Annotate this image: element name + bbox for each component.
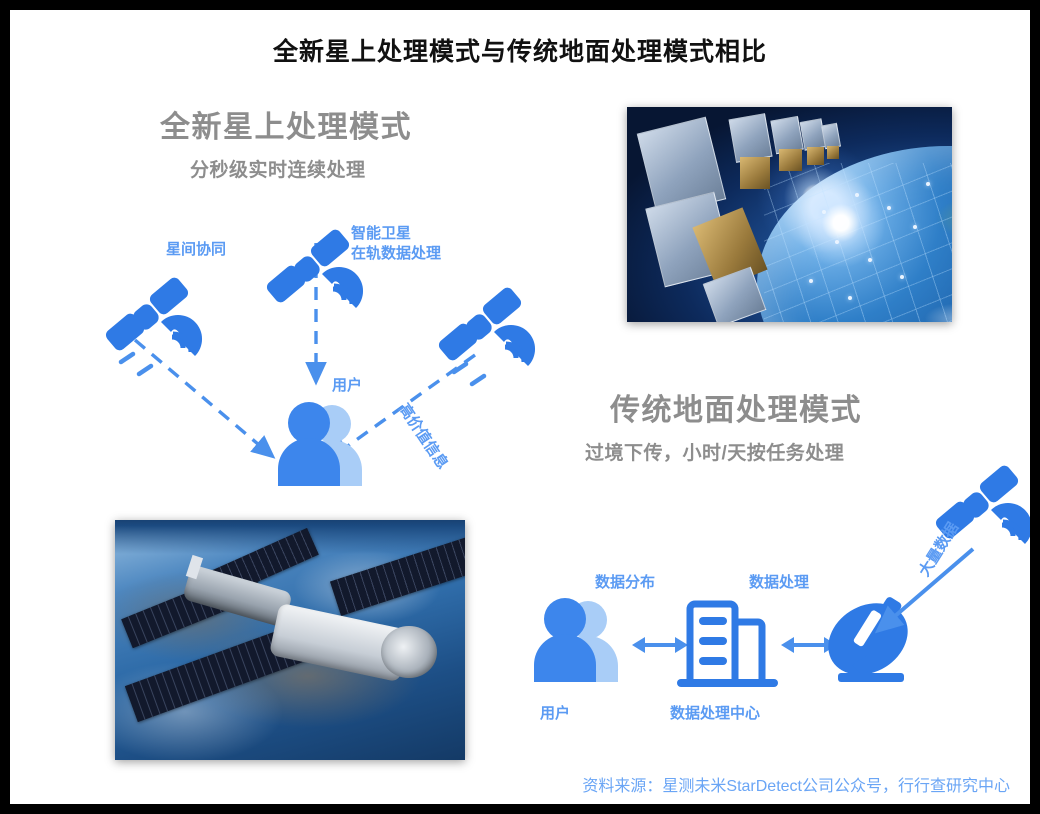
label-user-right: 用户 [540,704,570,724]
user-icon-left [276,402,372,488]
source-note: 资料来源：星测未米StarDetect公司公众号，行行查研究中心 [10,772,1010,796]
space-station-photo [115,520,465,760]
slide-page: 全新星上处理模式与传统地面处理模式相比 全新星上处理模式 分秒级实时连续处理 [0,0,1040,814]
label-data-processing: 数据处理 [749,573,809,593]
right-mode-heading: 传统地面处理模式 [610,385,862,429]
satellite-icon-right [438,292,542,388]
right-mode-subheading: 过境下传，小时/天按任务处理 [585,438,844,465]
left-mode-heading: 全新星上处理模式 [160,102,412,146]
label-smart-satellite-line2: 在轨数据处理 [351,244,441,264]
slide-canvas: 全新星上处理模式与传统地面处理模式相比 全新星上处理模式 分秒级实时连续处理 [10,10,1030,804]
station-docking-node [381,626,437,679]
user-icon-right [532,598,628,684]
sun-flare [796,178,886,268]
label-user-left: 用户 [332,376,362,396]
page-title: 全新星上处理模式与传统地面处理模式相比 [10,32,1030,68]
constellation-photo [627,107,952,322]
label-smart-satellite-line1: 智能卫星 [351,224,441,244]
label-smart-satellite: 智能卫星 在轨数据处理 [351,224,441,264]
label-inter-satellite: 星间协同 [166,240,226,260]
data-center-building-icon [678,593,778,689]
label-data-distribution: 数据分布 [595,573,655,593]
left-mode-subheading: 分秒级实时连续处理 [190,155,366,182]
satellite-icon-left [105,282,209,378]
label-data-center: 数据处理中心 [670,704,760,724]
satellite-5 [819,124,845,167]
